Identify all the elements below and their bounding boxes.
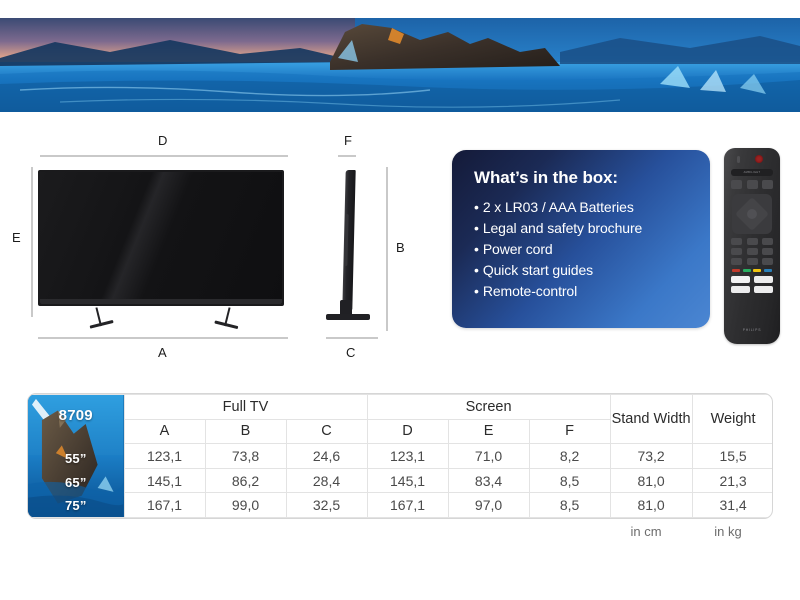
column-header-F: F — [529, 419, 610, 444]
list-item-label: Remote-control — [483, 283, 577, 299]
tv-foot-right — [224, 307, 231, 326]
remote-source-row — [731, 180, 773, 189]
cell-65-F: 8,5 — [529, 468, 610, 493]
size-label-75: 75” — [28, 498, 124, 513]
product-spec-sheet: D E A F B C What’s in the box: •2 x LR03… — [0, 0, 800, 600]
bullet-icon: • — [474, 199, 479, 215]
dimension-label-D: D — [158, 133, 168, 148]
cell-65-D: 145,1 — [367, 468, 448, 493]
cell-55-stand-width: 73,2 — [610, 444, 692, 469]
rewind-icon — [731, 248, 742, 255]
table-header-group-row: 8709 55” 65” 75” Full TV Screen Stand Wi… — [28, 395, 773, 420]
list-item: •Power cord — [474, 239, 690, 260]
forward-icon — [762, 248, 773, 255]
tv-foot-left — [95, 307, 102, 326]
bullet-icon: • — [474, 220, 479, 236]
list-item-label: Quick start guides — [483, 262, 593, 278]
bullet-icon: • — [474, 241, 479, 257]
record-icon — [731, 258, 742, 265]
unit-label-length: in cm — [612, 524, 680, 539]
cell-75-D: 167,1 — [367, 493, 448, 518]
youtube-app-icon — [754, 276, 773, 283]
rule-right-B — [386, 167, 388, 331]
volume-icon — [731, 238, 742, 245]
whats-in-the-box-card: What’s in the box: •2 x LR03 / AAA Batte… — [452, 150, 710, 328]
netflix-app-icon — [731, 276, 750, 283]
model-thumbnail-cell: 8709 55” 65” 75” — [28, 395, 124, 518]
cell-75-weight: 31,4 — [692, 493, 773, 518]
dpad-navigation — [732, 194, 772, 234]
rule-top-D — [40, 155, 288, 157]
mute-icon — [747, 238, 758, 245]
list-item-label: Legal and safety brochure — [483, 220, 642, 236]
app-shortcut-buttons — [731, 276, 773, 296]
ok-button-icon — [747, 209, 757, 219]
banner-artwork — [0, 18, 800, 112]
tv-side-base — [326, 314, 370, 320]
hero-banner-image — [0, 18, 800, 112]
unit-label-weight: in kg — [690, 524, 766, 539]
bullet-icon: • — [474, 283, 479, 299]
ambilight-key: AMBILIGHT — [731, 169, 773, 176]
cell-65-stand-width: 81,0 — [610, 468, 692, 493]
remote-row-volume — [731, 238, 773, 245]
group-header-screen: Screen — [367, 395, 610, 420]
philips-brand-logo: PHILIPS — [724, 328, 780, 332]
list-item: •Legal and safety brochure — [474, 218, 690, 239]
cell-75-B: 99,0 — [205, 493, 286, 518]
remote-body: AMBILIGHT — [724, 148, 780, 344]
column-header-weight: Weight — [692, 395, 773, 444]
microphone-icon — [737, 156, 740, 163]
box-contents-list: •2 x LR03 / AAA Batteries •Legal and saf… — [474, 197, 690, 302]
cell-75-stand-width: 81,0 — [610, 493, 692, 518]
settings-gear-icon — [762, 180, 773, 189]
list-item-label: 2 x LR03 / AAA Batteries — [483, 199, 634, 215]
list-item-label: Power cord — [483, 241, 553, 257]
power-button-icon — [755, 155, 763, 163]
rule-bottom-A — [38, 337, 288, 339]
column-header-stand-width: Stand Width — [610, 395, 692, 444]
cell-75-F: 8,5 — [529, 493, 610, 518]
column-header-C: C — [286, 419, 367, 444]
specifications-table: 8709 55” 65” 75” Full TV Screen Stand Wi… — [27, 393, 773, 519]
spec-table: 8709 55” 65” 75” Full TV Screen Stand Wi… — [28, 394, 773, 518]
size-label-55: 55” — [28, 451, 124, 466]
column-header-B: B — [205, 419, 286, 444]
dimension-label-C: C — [346, 345, 356, 360]
cell-75-A: 167,1 — [124, 493, 205, 518]
table-row: 123,1 73,8 24,6 123,1 71,0 8,2 73,2 15,5 — [28, 444, 773, 469]
cell-55-B: 73,8 — [205, 444, 286, 469]
list-item: •Remote-control — [474, 281, 690, 302]
cell-55-A: 123,1 — [124, 444, 205, 469]
channel-icon — [762, 258, 773, 265]
remote-row-channel — [731, 258, 773, 265]
column-header-E: E — [448, 419, 529, 444]
cell-65-C: 28,4 — [286, 468, 367, 493]
tv-front-view — [38, 170, 284, 325]
cell-65-E: 83,4 — [448, 468, 529, 493]
cell-55-F: 8,2 — [529, 444, 610, 469]
remote-row-playback — [731, 248, 773, 255]
app-row — [731, 286, 773, 293]
blue-key-icon — [764, 269, 772, 272]
table-row: 145,1 86,2 28,4 145,1 83,4 8,5 81,0 21,3 — [28, 468, 773, 493]
bullet-icon: • — [474, 262, 479, 278]
cell-55-weight: 15,5 — [692, 444, 773, 469]
stop-icon — [747, 258, 758, 265]
column-header-A: A — [124, 419, 205, 444]
tv-side-body — [342, 170, 355, 310]
play-pause-icon — [747, 248, 758, 255]
cell-75-C: 32,5 — [286, 493, 367, 518]
box-title: What’s in the box: — [474, 168, 690, 188]
rule-left-E — [31, 167, 33, 317]
remote-control-image: AMBILIGHT — [724, 148, 780, 344]
app-row — [731, 276, 773, 283]
cell-55-D: 123,1 — [367, 444, 448, 469]
home-icon — [762, 238, 773, 245]
list-item: •Quick start guides — [474, 260, 690, 281]
dimension-label-E: E — [12, 230, 21, 245]
source-icon — [731, 180, 742, 189]
cell-65-B: 86,2 — [205, 468, 286, 493]
rakuten-app-icon — [754, 286, 773, 293]
model-number: 8709 — [28, 407, 124, 424]
list-item: •2 x LR03 / AAA Batteries — [474, 197, 690, 218]
cell-65-weight: 21,3 — [692, 468, 773, 493]
dimension-label-A: A — [158, 345, 167, 360]
dimension-label-F: F — [344, 133, 352, 148]
ambilight-label: AMBILIGHT — [731, 169, 773, 176]
green-key-icon — [743, 269, 751, 272]
table-row: 167,1 99,0 32,5 167,1 97,0 8,5 81,0 31,4 — [28, 493, 773, 518]
cell-55-C: 24,6 — [286, 444, 367, 469]
group-header-full-tv: Full TV — [124, 395, 367, 420]
yellow-key-icon — [753, 269, 761, 272]
color-keys-row — [732, 269, 772, 272]
cell-75-E: 97,0 — [448, 493, 529, 518]
assistant-icon — [747, 180, 758, 189]
red-key-icon — [732, 269, 740, 272]
column-header-D: D — [367, 419, 448, 444]
tv-screen-panel — [38, 170, 284, 306]
tv-dimension-diagram: D E A F B C — [0, 125, 425, 365]
dimension-label-B: B — [396, 240, 405, 255]
rule-bottom-C — [326, 337, 378, 339]
tv-side-view — [330, 170, 374, 330]
size-label-65: 65” — [28, 475, 124, 490]
prime-video-app-icon — [731, 286, 750, 293]
cell-55-E: 71,0 — [448, 444, 529, 469]
cell-65-A: 145,1 — [124, 468, 205, 493]
rule-top-F — [338, 155, 356, 157]
